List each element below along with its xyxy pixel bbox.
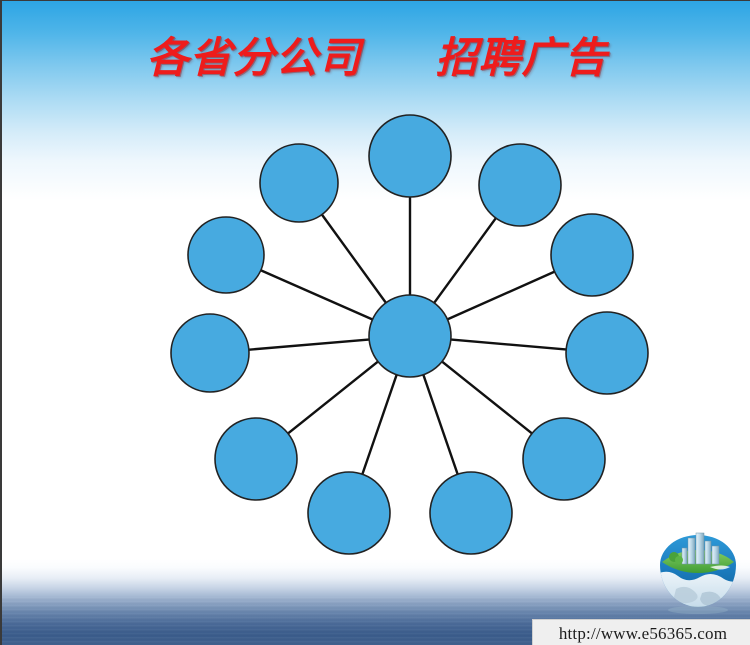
diagram-node-node-10[interactable] [308, 472, 390, 554]
slide-canvas: 各省分公司招聘广告 [0, 0, 750, 645]
spoke-line-node-6 [248, 339, 370, 349]
title-part-company: 各省分公司 [146, 37, 361, 79]
spoke-line-node-10 [362, 374, 397, 475]
diagram-node-node-9[interactable] [523, 418, 605, 500]
spoke-line-node-7 [450, 339, 567, 349]
spoke-line-node-2 [321, 214, 386, 304]
nodes-layer [171, 115, 648, 554]
watermark-url-text: http://www.e56365.com [559, 624, 727, 644]
spoke-line-node-9 [441, 361, 532, 434]
spoke-line-node-3 [434, 217, 497, 303]
diagram-node-node-4[interactable] [188, 217, 264, 293]
diagram-node-node-1[interactable] [369, 115, 451, 197]
diagram-node-node-7[interactable] [566, 312, 648, 394]
spoke-line-node-11 [423, 374, 458, 475]
watermark-url-box: http://www.e56365.com [532, 619, 750, 645]
diagram-node-node-2[interactable] [260, 144, 338, 222]
diagram-hub-node[interactable] [369, 295, 451, 377]
diagram-node-node-5[interactable] [551, 214, 633, 296]
hub-and-spoke-diagram [2, 1, 750, 645]
spoke-line-node-8 [287, 361, 378, 434]
spoke-line-node-4 [260, 270, 374, 320]
title-part-recruitment: 招聘广告 [436, 37, 608, 79]
earth-city-globe-icon [650, 529, 746, 615]
diagram-node-node-11[interactable] [430, 472, 512, 554]
diagram-node-node-6[interactable] [171, 314, 249, 392]
diagram-svg [2, 1, 750, 645]
diagram-node-node-8[interactable] [215, 418, 297, 500]
page-title: 各省分公司招聘广告 [2, 37, 750, 79]
diagram-node-node-3[interactable] [479, 144, 561, 226]
spoke-line-node-5 [447, 271, 556, 319]
